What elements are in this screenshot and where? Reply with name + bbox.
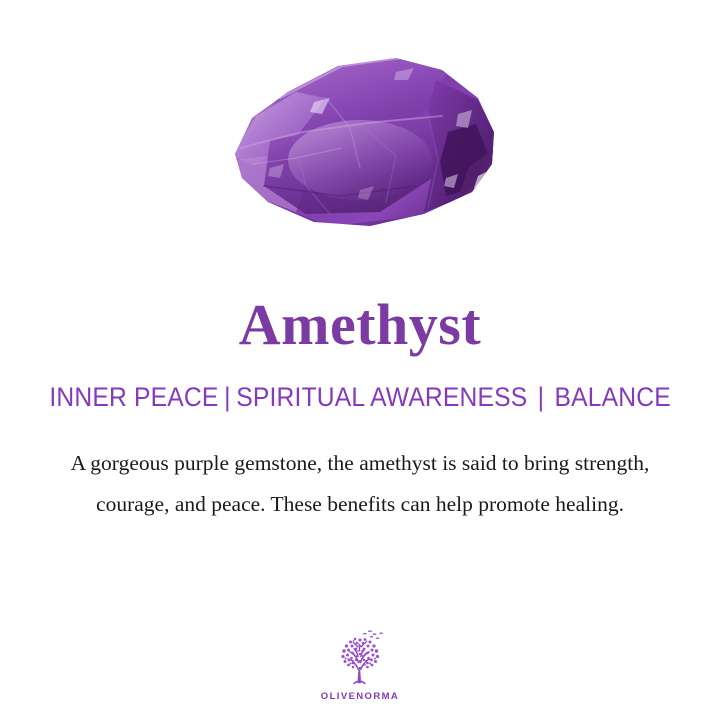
page-title: Amethyst xyxy=(239,282,481,354)
amethyst-crystal-image xyxy=(210,36,510,246)
tree-of-life-icon xyxy=(329,627,391,689)
keyword-balance: BALANCE xyxy=(554,382,670,412)
amethyst-info-card: Amethyst INNER PEACE|SPIRITUAL AWARENESS… xyxy=(0,0,720,720)
keyword-inner-peace: INNER PEACE xyxy=(49,382,218,412)
keyword-spiritual-awareness: SPIRITUAL AWARENESS xyxy=(236,382,527,412)
brand-logo: OLIVENORMA xyxy=(0,627,720,702)
keyword-line: INNER PEACE|SPIRITUAL AWARENESS|BALANCE xyxy=(49,354,670,413)
description-text: A gorgeous purple gemstone, the amethyst… xyxy=(50,413,670,525)
keyword-separator-2: | xyxy=(527,382,554,412)
keyword-separator-1: | xyxy=(218,382,236,412)
hero-image-container xyxy=(0,0,720,282)
brand-wordmark: OLIVENORMA xyxy=(321,691,399,702)
birds-icon xyxy=(364,631,383,639)
gem-body xyxy=(230,56,498,246)
